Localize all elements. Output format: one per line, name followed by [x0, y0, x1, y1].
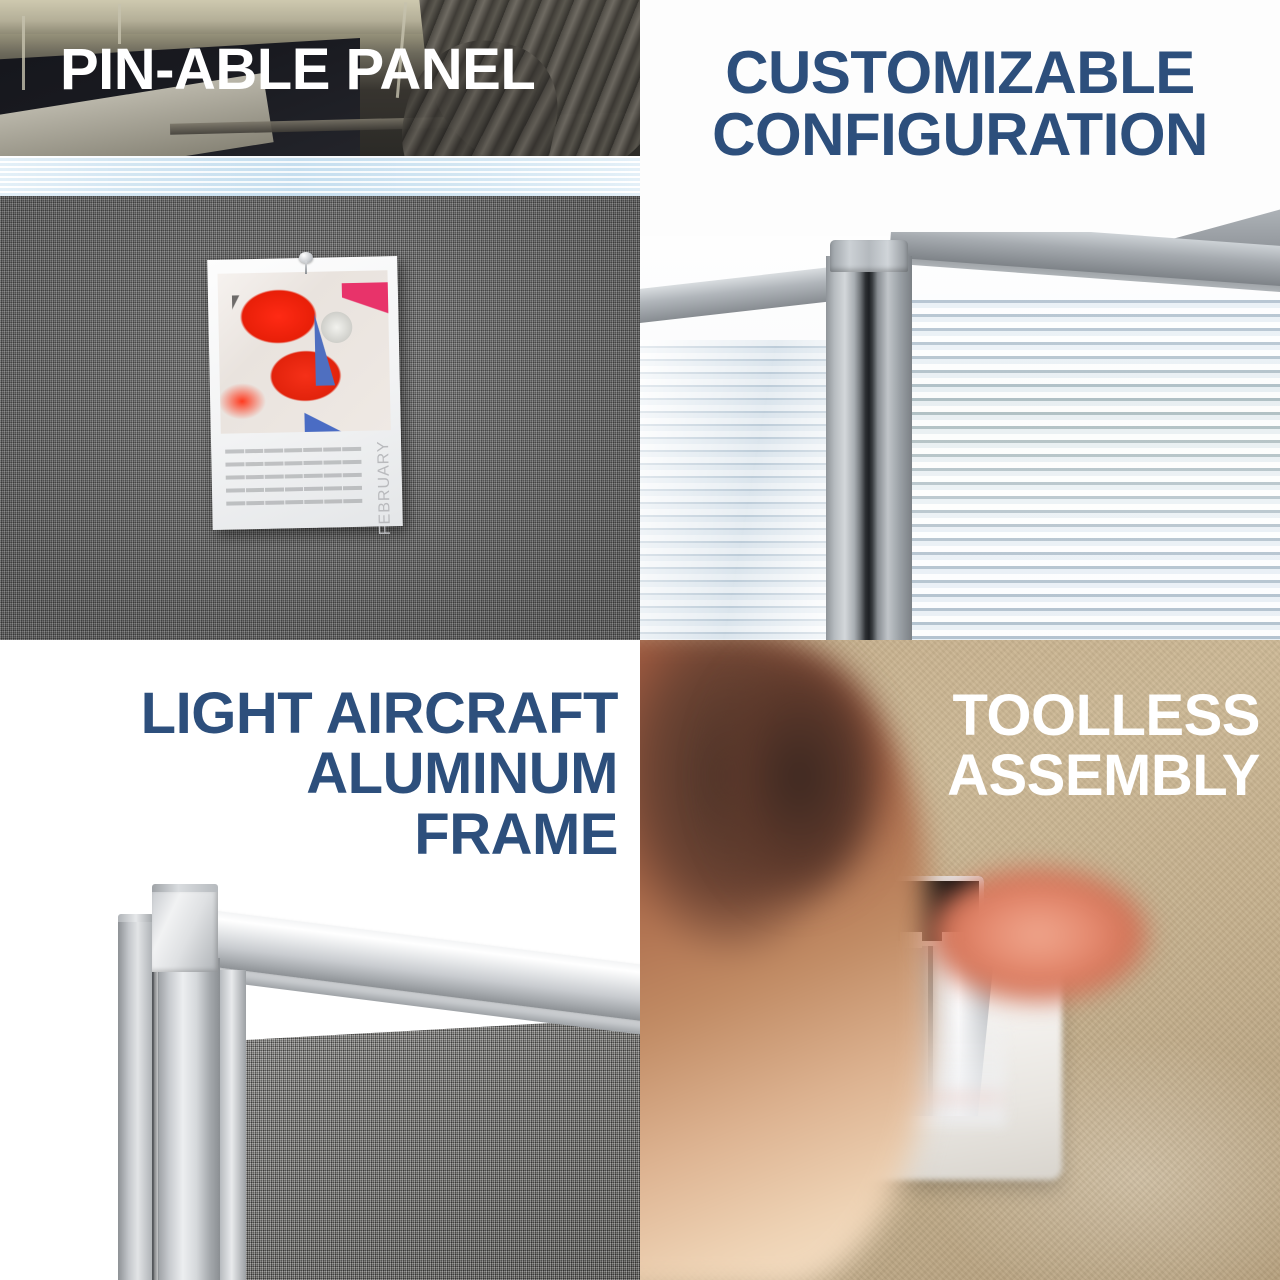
hanger-rod-icon — [22, 16, 25, 90]
frame-front-post — [158, 958, 220, 1280]
frame-corner-block — [152, 892, 218, 972]
headline-customizable-configuration: CUSTOMIZABLE CONFIGURATION — [640, 42, 1280, 167]
headline-light-aircraft-aluminum-frame: LIGHT AIRCRAFT ALUMINUM FRAME — [0, 684, 618, 865]
quadrant-customizable-configuration: CUSTOMIZABLE CONFIGURATION — [640, 0, 1280, 640]
frame-inner-trim — [220, 970, 246, 1280]
headline-toolless-assembly: TOOLLESS ASSEMBLY — [640, 686, 1260, 807]
window-blinds-left — [640, 340, 836, 640]
quadrant-light-aircraft-aluminum-frame: LIGHT AIRCRAFT ALUMINUM FRAME — [0, 640, 640, 1280]
aluminum-post-cap — [830, 240, 908, 272]
push-pin-icon — [297, 252, 315, 274]
quadrant-pin-able-panel: FEBRUARY PIN-ABLE PANEL — [0, 0, 640, 640]
calendar-month-label: FEBRUARY — [375, 440, 395, 535]
window-light-band — [0, 156, 640, 198]
frame-rear-post — [118, 922, 154, 1280]
frame-post-seam — [152, 958, 159, 1280]
divider-post-photo — [640, 232, 1280, 640]
headline-pin-able-panel: PIN-ABLE PANEL — [60, 40, 535, 100]
pinned-calendar: FEBRUARY — [207, 256, 403, 530]
feature-collage: FEBRUARY PIN-ABLE PANEL CUSTOMIZABLE CON… — [0, 0, 1280, 1280]
calendar-artwork — [217, 270, 390, 434]
push-pin-needle — [305, 261, 307, 274]
quadrant-toolless-assembly: TOOLLESS ASSEMBLY — [640, 640, 1280, 1280]
calendar-date-grid — [225, 443, 362, 518]
frame-fabric-insert — [246, 1018, 640, 1280]
fingertip-blur — [900, 836, 1200, 1026]
aluminum-post — [826, 256, 912, 640]
window-blinds-right — [908, 294, 1280, 640]
top-rail-left — [640, 266, 847, 325]
